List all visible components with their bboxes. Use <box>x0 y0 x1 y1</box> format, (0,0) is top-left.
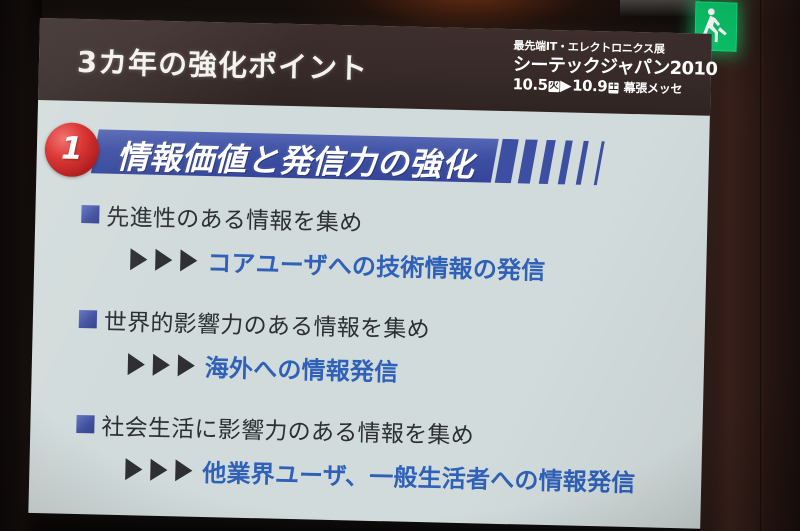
headline-banner-text: 情報価値と発信力の強化 <box>116 132 537 188</box>
headline-banner: 情報価値と発信力の強化 1 <box>36 122 709 200</box>
presentation-slide: 3カ年の強化ポイント 最先端IT・エレクトロニクス展 シーテックジャパン2010… <box>28 18 711 529</box>
triangle-arrow-icon <box>155 248 173 270</box>
square-bullet-icon <box>76 415 94 433</box>
bullet-heading-text: 先進性のある情報を集め <box>106 198 363 238</box>
bullet-heading-row: 社会生活に影響力のある情報を集め <box>30 406 703 456</box>
bullet-sub-row: 海外への情報発信 <box>31 344 704 395</box>
slide-header-band: 3カ年の強化ポイント 最先端IT・エレクトロニクス展 シーテックジャパン2010… <box>38 18 712 116</box>
event-venue: 幕張メッセ <box>623 81 682 97</box>
bullet-heading-row: 先進性のある情報を集め <box>35 196 708 246</box>
triangle-arrow-icon <box>125 458 143 480</box>
photo-frame: 3カ年の強化ポイント 最先端IT・エレクトロニクス展 シーテックジャパン2010… <box>0 0 800 531</box>
triangle-arrow-icon <box>153 353 171 375</box>
bullet-heading-row: 世界的影響力のある情報を集め <box>33 301 706 351</box>
bullet-sub-text: 他業界ユーザ、一般生活者への情報発信 <box>202 453 636 498</box>
banner-stripe <box>557 140 572 184</box>
bullet-sub-row: コアユーザへの技術情報の発信 <box>34 239 707 290</box>
bullet-sub-text: コアユーザへの技術情報の発信 <box>207 243 546 286</box>
triangle-arrow-icon <box>180 249 198 271</box>
bullet-block: 世界的影響力のある情報を集め 海外への情報発信 <box>31 301 705 395</box>
square-bullet-icon <box>81 205 99 223</box>
banner-stripe <box>594 141 605 185</box>
wall-seam <box>760 0 763 531</box>
triangle-arrow-icon <box>128 353 146 375</box>
banner-stripe <box>576 141 589 185</box>
bullet-heading-text: 世界的影響力のある情報を集め <box>104 303 431 345</box>
event-date-arrow-icon: ▶ <box>560 77 571 95</box>
event-date-end-day: 土 <box>608 82 619 93</box>
event-date-end: 10.9 <box>572 78 607 97</box>
bullet-sub-row: 他業界ユーザ、一般生活者への情報発信 <box>29 449 702 500</box>
projection-screen: 3カ年の強化ポイント 最先端IT・エレクトロニクス展 シーテックジャパン2010… <box>28 18 718 531</box>
triangle-arrow-icon <box>175 459 193 481</box>
page-title: 3カ年の強化ポイント <box>77 39 369 88</box>
event-logo-dates: 10.5 火 ▶ 10.9 土 幕張メッセ <box>512 76 688 98</box>
bullet-blocks: 先進性のある情報を集め コアユーザへの技術情報の発信 世界的影響力のある情報を集… <box>28 196 707 527</box>
triangle-arrow-icon <box>178 354 196 376</box>
triangle-arrow-icon <box>130 248 148 270</box>
bullet-block: 社会生活に影響力のある情報を集め 他業界ユーザ、一般生活者への情報発信 <box>29 406 703 500</box>
section-number-badge: 1 <box>44 122 99 177</box>
bullet-heading-text: 社会生活に影響力のある情報を集め <box>101 408 475 451</box>
bullet-block: 先進性のある情報を集め コアユーザへの技術情報の発信 <box>34 196 708 290</box>
event-date-start-day: 火 <box>548 81 559 92</box>
bullet-sub-text: 海外への情報発信 <box>204 348 398 388</box>
banner-stripe <box>538 140 555 184</box>
event-date-start: 10.5 <box>512 76 547 95</box>
triangle-arrow-icon <box>150 458 168 480</box>
event-logo: 最先端IT・エレクトロニクス展 シーテックジャパン2010 10.5 火 ▶ 1… <box>512 40 689 98</box>
square-bullet-icon <box>79 310 97 328</box>
section-number-label: 1 <box>44 122 99 177</box>
